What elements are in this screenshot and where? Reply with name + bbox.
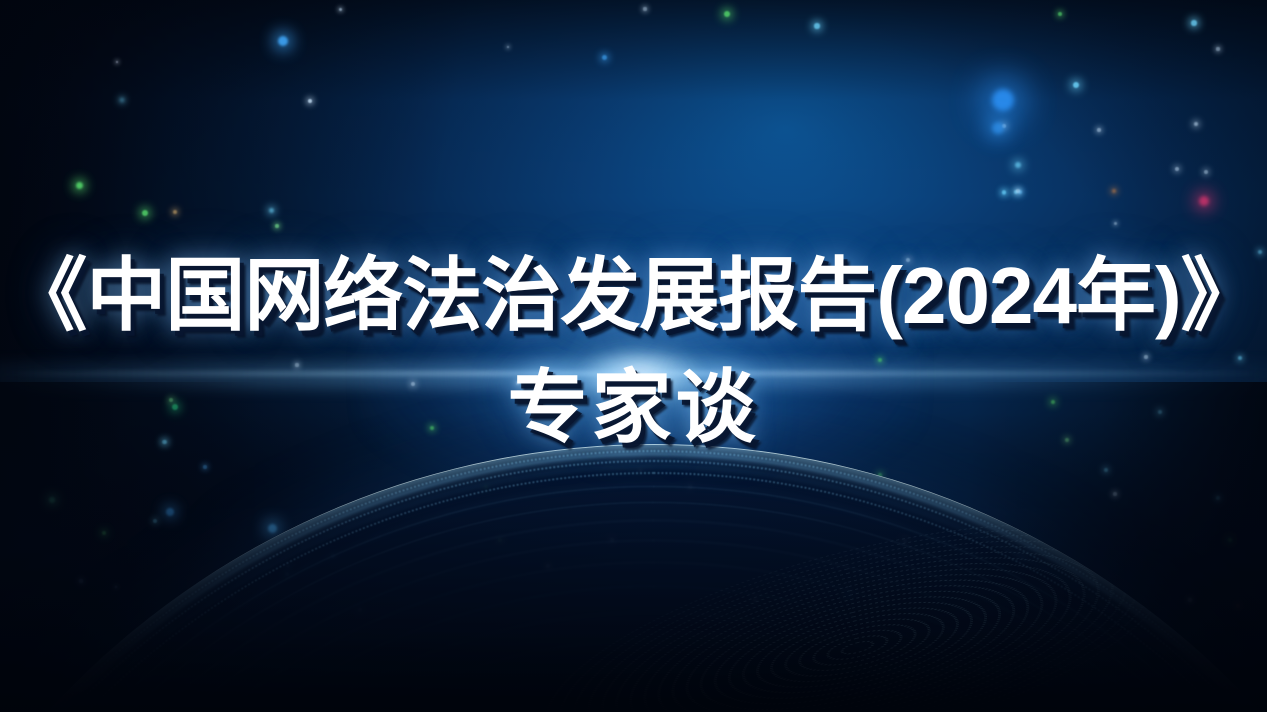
- particle-dot-icon: [120, 98, 124, 102]
- particle-dot-icon: [1002, 190, 1006, 194]
- page-subtitle: 专家谈: [0, 360, 1267, 456]
- particle-dot-icon: [116, 61, 119, 64]
- particle-dot-icon: [1194, 122, 1198, 126]
- particle-dot-icon: [275, 224, 279, 228]
- particle-dot-icon: [814, 23, 819, 28]
- particle-dot-icon: [1073, 82, 1079, 88]
- particle-dot-icon: [1204, 170, 1208, 174]
- particle-dot-icon: [1191, 20, 1196, 25]
- poster-canvas: 《中国网络法治发展报告(2024年)》 专家谈: [0, 0, 1267, 712]
- particle-dot-icon: [173, 210, 177, 214]
- particle-dot-icon: [1015, 162, 1021, 168]
- particle-dot-icon: [76, 182, 83, 189]
- particle-dot-icon: [1002, 191, 1006, 195]
- particle-dot-icon: [507, 46, 510, 49]
- particle-dot-icon: [278, 36, 288, 46]
- particle-dot-icon: [643, 7, 646, 10]
- particle-dot-icon: [602, 55, 607, 60]
- particle-dot-icon: [724, 11, 730, 17]
- particle-dot-icon: [1002, 124, 1006, 128]
- particle-dot-icon: [992, 122, 1004, 134]
- particle-dot-icon: [1097, 128, 1101, 132]
- particle-dot-icon: [1114, 222, 1117, 225]
- particle-dot-icon: [1058, 12, 1062, 16]
- particle-dot-icon: [269, 208, 274, 213]
- particle-dot-icon: [1016, 189, 1019, 192]
- particle-dot-icon: [142, 210, 148, 216]
- particle-dot-icon: [1199, 196, 1209, 206]
- particle-dot-icon: [992, 89, 1014, 111]
- particle-dot-icon: [1175, 167, 1179, 171]
- particle-dot-icon: [339, 8, 342, 11]
- particle-dot-icon: [1018, 190, 1022, 194]
- poster-title-block: 《中国网络法治发展报告(2024年)》 专家谈: [0, 246, 1267, 456]
- particle-dot-icon: [1216, 47, 1219, 50]
- page-title: 《中国网络法治发展报告(2024年)》: [0, 246, 1267, 346]
- particle-dot-icon: [308, 99, 312, 103]
- particle-dot-icon: [1014, 190, 1019, 195]
- particle-dot-icon: [1112, 189, 1116, 193]
